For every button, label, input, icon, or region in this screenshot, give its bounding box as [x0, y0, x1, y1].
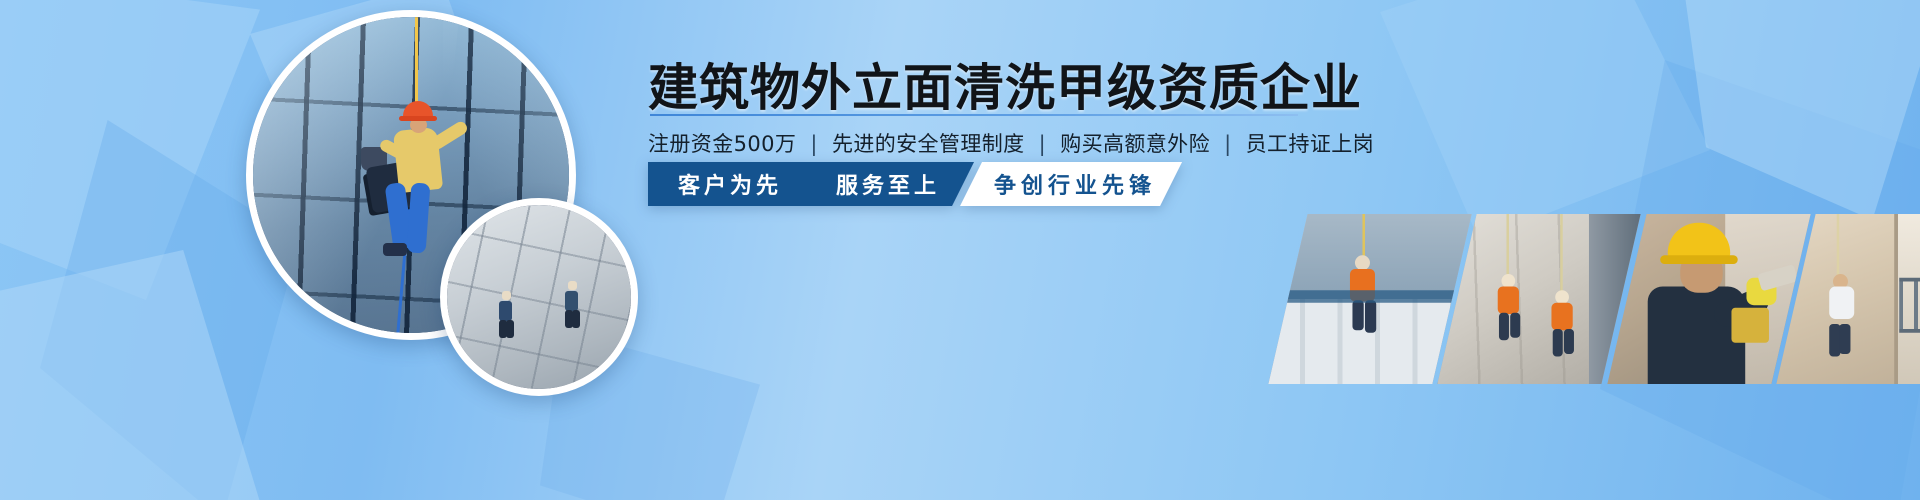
worker-leg [1365, 300, 1376, 333]
banner-subtitle: 注册资金500万 | 先进的安全管理制度 | 购买高额意外险 | 员工持证上岗 [648, 128, 1374, 158]
slogan-customer-first: 客户为先 [678, 168, 782, 200]
banner-headline: 建筑物外立面清洗甲级资质企业 [648, 48, 1362, 120]
worker-safety-vest [1350, 269, 1375, 302]
slogan-service-supreme: 服务至上 [836, 168, 940, 200]
slogan-industry-pioneer: 争创行业先锋 [994, 168, 1156, 200]
concrete-facade [447, 205, 631, 389]
medallion-photo-small [440, 198, 638, 396]
photo-panel-strip [1288, 214, 1920, 384]
worker-head [568, 281, 577, 290]
slogan-badge-dark: 客户为先 服务至上 [648, 162, 974, 206]
trowel-icon [1756, 264, 1797, 291]
background-polygon-decor [0, 250, 260, 500]
grey-facade-image [447, 205, 631, 389]
worker-leg [506, 320, 514, 338]
background-polygon-decor [1680, 0, 1920, 220]
plaster-bucket [1731, 307, 1769, 342]
worker-head [1502, 274, 1516, 288]
worker-torso [1829, 286, 1854, 319]
worker-leg [1511, 312, 1521, 337]
worker-leg [1564, 329, 1574, 354]
worker-leg [1553, 329, 1563, 357]
worker-leg [1829, 324, 1840, 357]
photo-panel-2 [1438, 214, 1641, 384]
worker-leg [1352, 300, 1363, 330]
orange-vest-worker-image [1268, 214, 1471, 384]
subtitle-item-2: 先进的安全管理制度 [832, 132, 1025, 156]
worker-safety-vest [1498, 286, 1519, 314]
slogan-badge-light: 争创行业先锋 [960, 162, 1182, 206]
background-polygon-decor [0, 0, 260, 300]
worker-leg [572, 310, 580, 328]
promo-banner: 建筑物外立面清洗甲级资质企业 注册资金500万 | 先进的安全管理制度 | 购买… [0, 0, 1920, 500]
subtitle-item-4: 员工持证上岗 [1246, 132, 1374, 156]
worker-leg [1839, 324, 1850, 354]
subtitle-item-3: 购买高额意外险 [1060, 132, 1210, 156]
worker-torso [499, 301, 512, 321]
worker-head [502, 291, 511, 300]
helmet-worker-plastering-image [1607, 214, 1810, 384]
slogan-badge-strip: 客户为先 服务至上 争创行业先锋 [648, 162, 1182, 206]
subtitle-separator: | [1032, 132, 1053, 156]
photo-panel-1 [1268, 214, 1471, 384]
safety-helmet-icon [1668, 222, 1731, 260]
balcony-railing [1898, 278, 1920, 333]
worker-boot [383, 243, 407, 256]
photo-panel-3 [1607, 214, 1810, 384]
banner-text-column: 建筑物外立面清洗甲级资质企业 注册资金500万 | 先进的安全管理制度 | 购买… [640, 0, 1320, 500]
headline-divider [650, 114, 1298, 116]
worker-safety-vest [1552, 303, 1573, 331]
subtitle-separator: | [803, 132, 824, 156]
subtitle-item-1: 注册资金500万 [648, 132, 796, 156]
background-polygon-decor [1380, 0, 1710, 240]
worker-head [1355, 255, 1370, 270]
two-rope-workers-image [1438, 214, 1641, 384]
worker-leg [1500, 312, 1510, 340]
subtitle-separator: | [1217, 132, 1238, 156]
worker-torso [565, 291, 578, 311]
